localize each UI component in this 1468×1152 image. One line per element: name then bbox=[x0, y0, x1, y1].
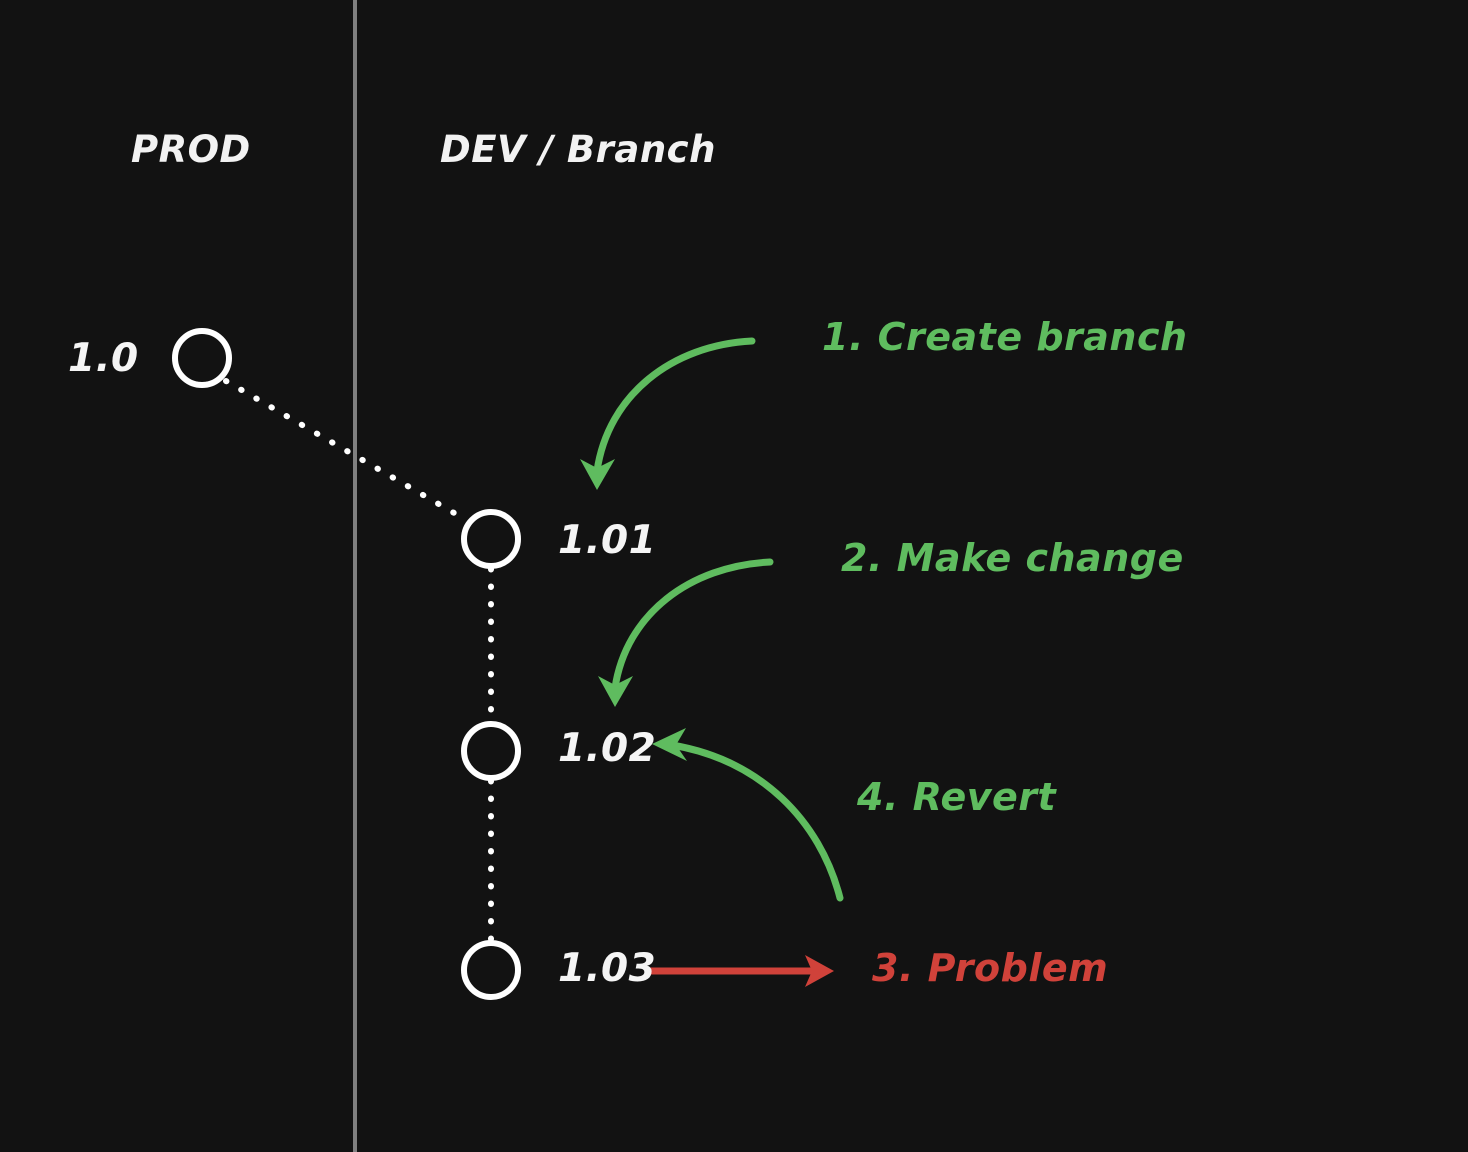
commit-node-1-02[interactable] bbox=[464, 724, 518, 778]
dotted-link-1-0-to-1-01 bbox=[226, 381, 468, 521]
commit-node-1-03[interactable] bbox=[464, 943, 518, 997]
commit-node-1-0[interactable] bbox=[175, 331, 229, 385]
annotation-revert: 4. Revert bbox=[857, 778, 1056, 816]
lane-header-prod: PROD bbox=[131, 131, 251, 168]
annotation-problem: 3. Problem bbox=[872, 949, 1108, 987]
annotation-make-change: 2. Make change bbox=[841, 539, 1184, 577]
lane-divider bbox=[353, 0, 357, 1152]
node-label-1-02: 1.02 bbox=[558, 729, 656, 768]
diagram-canvas: PROD DEV / Branch bbox=[0, 0, 1468, 1152]
arrow-revert bbox=[652, 728, 840, 898]
node-label-1-0: 1.0 bbox=[68, 339, 139, 378]
arrow-make-change bbox=[598, 562, 770, 707]
node-label-1-03: 1.03 bbox=[558, 949, 656, 988]
lane-header-dev: DEV / Branch bbox=[440, 131, 716, 168]
commit-node-1-01[interactable] bbox=[464, 512, 518, 566]
node-label-1-01: 1.01 bbox=[558, 521, 656, 560]
arrow-create-branch bbox=[580, 341, 752, 490]
annotation-create-branch: 1. Create branch bbox=[822, 318, 1188, 356]
arrow-problem bbox=[645, 955, 834, 987]
graph-overlay bbox=[0, 0, 1468, 1152]
